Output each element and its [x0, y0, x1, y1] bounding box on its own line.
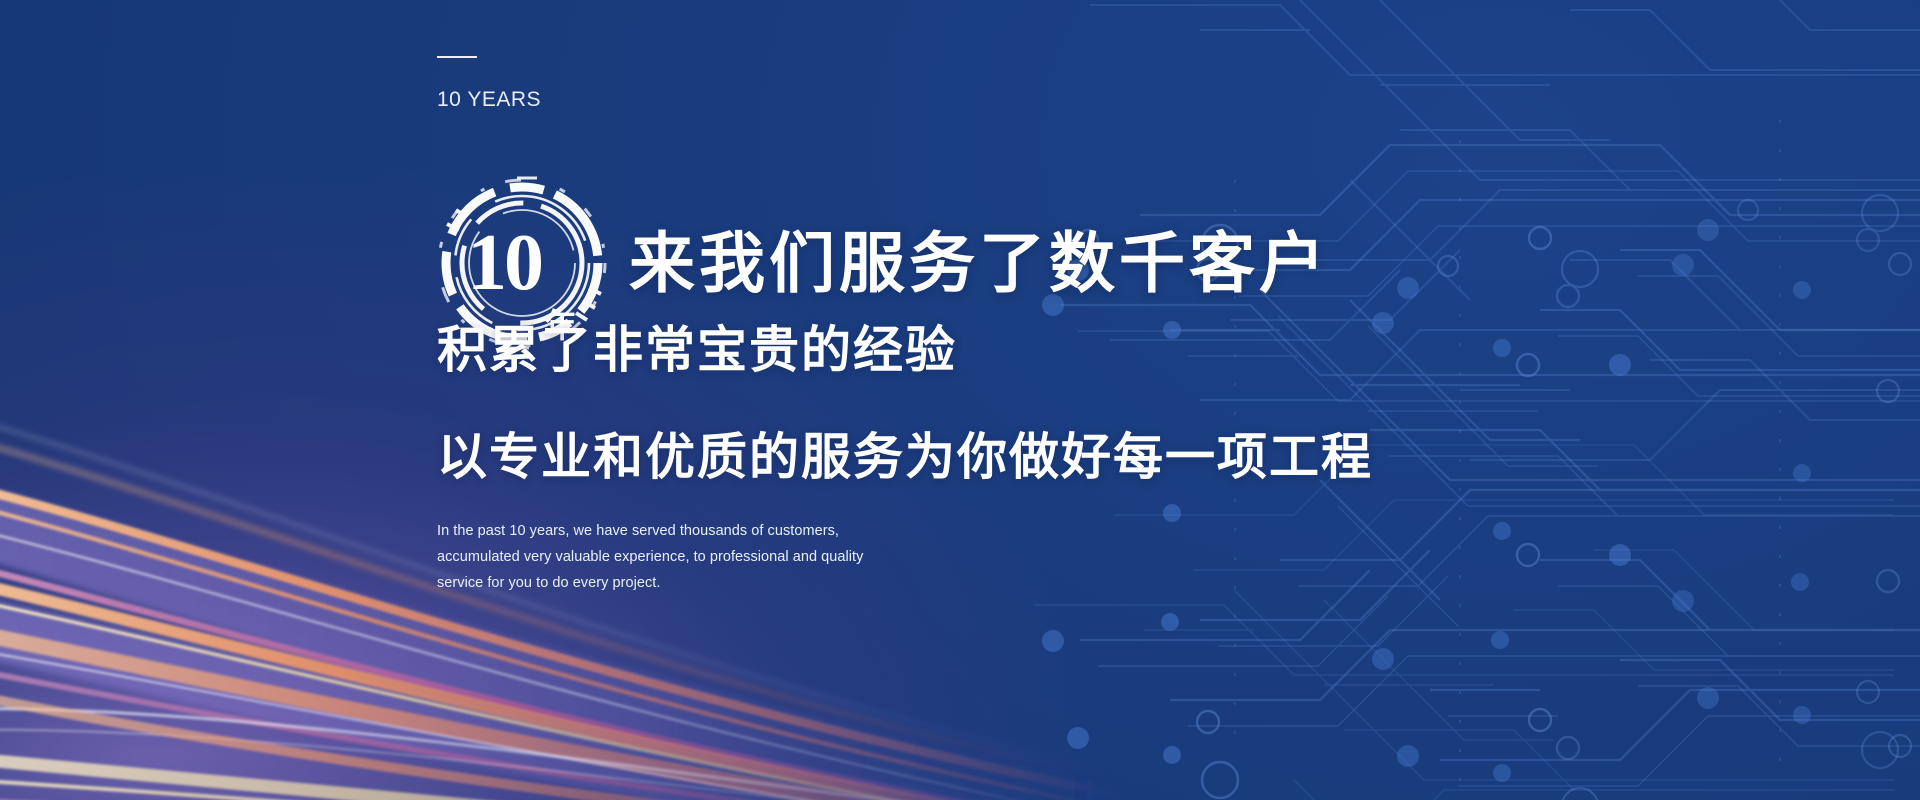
subheadline-primary: 积累了非常宝贵的经验 [437, 325, 957, 375]
banner-content: 10 YEARS [437, 0, 1537, 800]
eyebrow-divider [437, 56, 477, 58]
hero-banner: 10 YEARS [0, 0, 1920, 800]
eyebrow-label: 10 YEARS [437, 88, 541, 112]
page-title: 来我们服务了数千客户 [629, 230, 1329, 296]
badge-number: 10 [467, 223, 541, 303]
subheadline-secondary: 以专业和优质的服务为你做好每一项工程 [437, 432, 1373, 482]
description-paragraph: In the past 10 years, we have served tho… [437, 519, 869, 596]
